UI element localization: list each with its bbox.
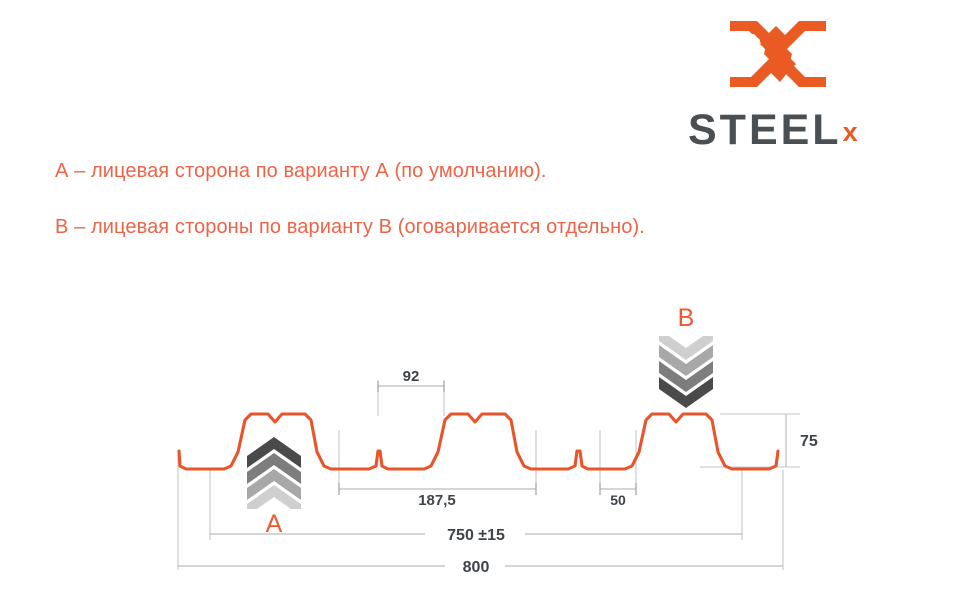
dimension-ticks: [339, 381, 636, 495]
dimension-labels: 92 187,5 50 75 750 ±15 800: [403, 368, 818, 576]
dimension-label-800: 800: [463, 559, 490, 576]
marker-b-chevrons: [659, 336, 713, 408]
marker-a-label: А: [247, 510, 301, 539]
marker-b-label: В: [659, 304, 713, 333]
dimension-label-75: 75: [800, 433, 818, 450]
dimension-label-187-5: 187,5: [418, 492, 456, 509]
marker-a-chevrons: [247, 437, 301, 509]
profile-technical-drawing: 92 187,5 50 75 750 ±15 800: [0, 0, 970, 597]
dimension-label-750: 750 ±15: [447, 527, 505, 544]
dimension-label-50: 50: [610, 492, 626, 508]
dimension-label-92: 92: [403, 368, 420, 385]
